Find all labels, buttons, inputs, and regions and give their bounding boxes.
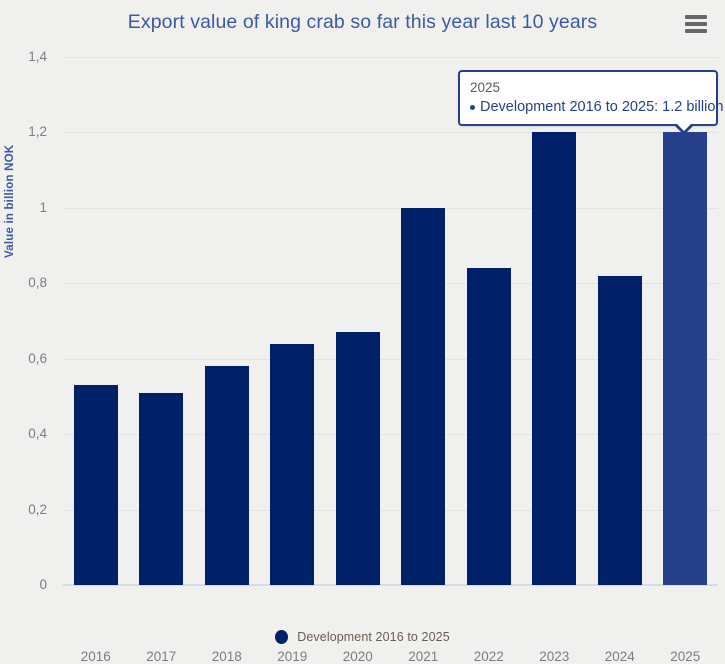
legend-item-label: Development 2016 to 2025 xyxy=(297,630,450,644)
bar-2024[interactable] xyxy=(598,276,642,585)
bar-2025[interactable] xyxy=(663,132,707,585)
bar-2016[interactable] xyxy=(74,385,118,585)
gridline xyxy=(63,208,718,209)
gridline xyxy=(63,132,718,133)
y-axis-tick-label: 0,8 xyxy=(0,275,47,290)
tooltip-arrow-fill xyxy=(675,122,693,131)
y-axis-tick-label: 0,2 xyxy=(0,502,47,517)
bar-2020[interactable] xyxy=(336,332,380,585)
bar-2021[interactable] xyxy=(401,208,445,585)
tooltip-row: Development 2016 to 2025: 1.2 billion xyxy=(470,99,706,115)
y-axis-tick-label: 1,4 xyxy=(0,49,47,64)
plot-area: 00,20,40,60,811,21,420162017201820192020… xyxy=(63,57,718,585)
hamburger-bar xyxy=(685,29,707,33)
tooltip-value-text: Development 2016 to 2025: 1.2 billion xyxy=(480,99,723,115)
y-axis-tick-label: 1,2 xyxy=(0,124,47,139)
hamburger-bar xyxy=(685,15,707,19)
bar-2018[interactable] xyxy=(205,366,249,585)
chart-container: Export value of king crab so far this ye… xyxy=(0,0,725,662)
bar-2022[interactable] xyxy=(467,268,511,585)
chart-legend[interactable]: Development 2016 to 2025 xyxy=(0,630,725,644)
y-axis-tick-label: 0 xyxy=(0,577,47,592)
gridline xyxy=(63,57,718,58)
y-axis-tick-label: 0,4 xyxy=(0,426,47,441)
tooltip-header: 2025 xyxy=(470,80,706,95)
y-axis-tick-label: 0,6 xyxy=(0,351,47,366)
bar-2017[interactable] xyxy=(139,393,183,585)
bar-2023[interactable] xyxy=(532,132,576,585)
bar-2019[interactable] xyxy=(270,344,314,585)
hamburger-menu-icon[interactable] xyxy=(683,13,713,39)
chart-tooltip: 2025 Development 2016 to 2025: 1.2 billi… xyxy=(458,70,718,126)
hamburger-bar xyxy=(685,22,707,26)
y-axis-tick-label: 1 xyxy=(0,200,47,215)
bullet-dot-icon xyxy=(470,105,475,110)
legend-dot-icon xyxy=(275,630,288,644)
page-title: Export value of king crab so far this ye… xyxy=(0,11,725,34)
